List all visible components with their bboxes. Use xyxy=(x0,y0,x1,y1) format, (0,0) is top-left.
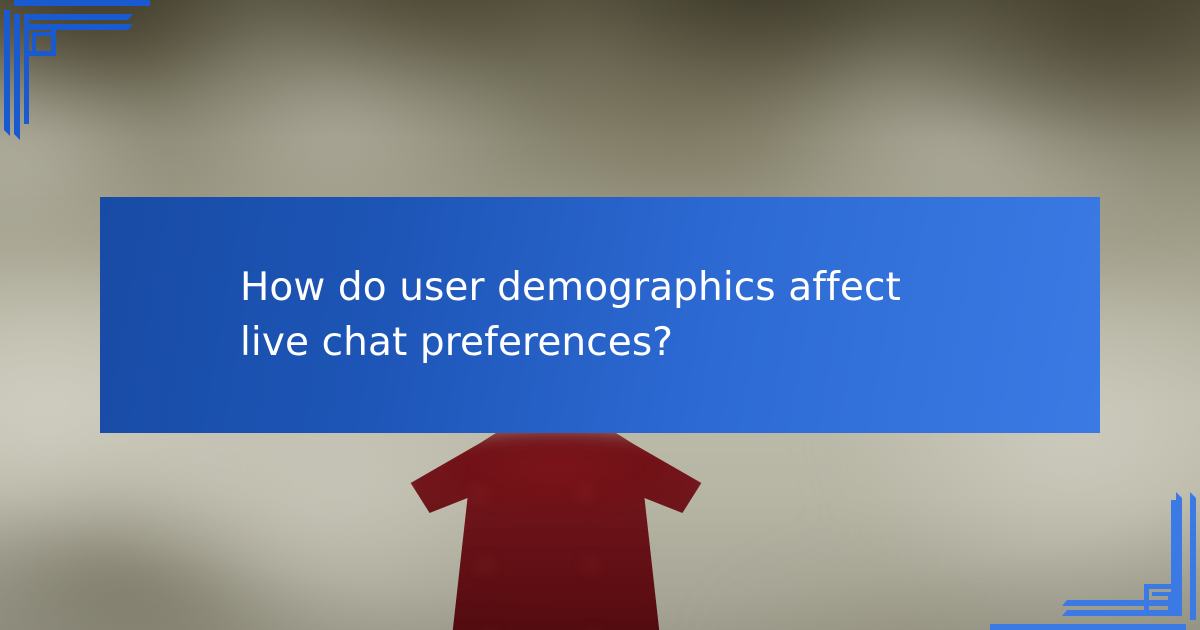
title-banner: How do user demographics affect live cha… xyxy=(100,197,1100,433)
background-subject-garment xyxy=(398,418,714,630)
background-subject-pattern xyxy=(430,470,680,630)
corner-ornament-top-left xyxy=(0,0,150,210)
poster-canvas: How do user demographics affect live cha… xyxy=(0,0,1200,630)
bracket-ornament-icon xyxy=(990,492,1196,630)
corner-ornament-bottom-right xyxy=(990,430,1200,630)
page-title: How do user demographics affect live cha… xyxy=(240,260,960,371)
bracket-ornament-icon xyxy=(4,0,150,140)
